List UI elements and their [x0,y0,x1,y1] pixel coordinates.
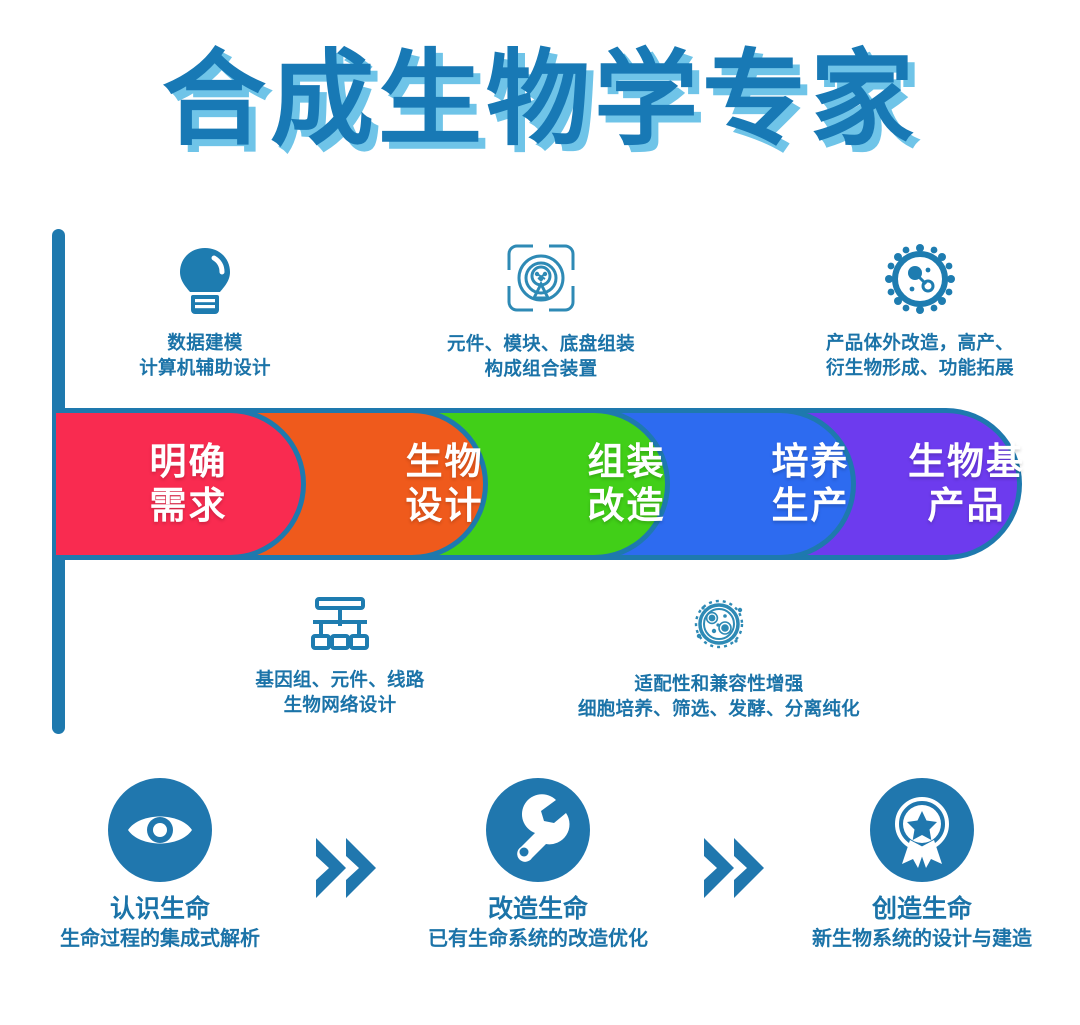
pipeline-stage-1-label: 明确 需求 [56,440,311,528]
flow-subtitle-2: 已有生命系统的改造优化 [400,926,676,952]
flow-circle-2 [486,778,590,882]
bottom-flow-row: 认识生命 生命过程的集成式解析 改造生命 已有生命系统的改造优化 [0,778,1080,998]
top-icon-caption-2-line1: 元件、模块、底盘组装 [398,331,684,356]
double-chevron-right-icon-2 [700,834,776,907]
virus-modification-icon [775,243,1065,320]
double-chevron-right-icon-1 [312,834,388,907]
flow-title-3: 创造生命 [782,894,1062,924]
bottom-icon-caption-1-line1: 基因组、元件、线路 [215,667,465,692]
flow-item-2[interactable]: 改造生命 已有生命系统的改造优化 [400,778,676,952]
top-icon-caption-2-line2: 构成组合装置 [398,356,684,381]
flow-item-3[interactable]: 创造生命 新生物系统的设计与建造 [782,778,1062,952]
bottom-icon-caption-1-line2: 生物网络设计 [215,692,465,717]
cell-culture-icon [540,592,898,661]
module-assembly-icon [398,240,684,321]
page-title: 合成生物学专家 合成生物学专家 [0,34,1080,174]
flow-subtitle-1: 生命过程的集成式解析 [32,926,288,952]
circuit-network-icon [215,596,465,657]
top-icon-caption-1-line1: 数据建模 [75,330,335,355]
pipeline-stage-1[interactable]: 明确 需求 [56,408,306,560]
award-ribbon-icon [870,778,974,882]
top-icon-caption-1-line2: 计算机辅助设计 [75,355,335,380]
eye-icon [108,778,212,882]
flow-title-1: 认识生命 [32,894,288,924]
lightbulb-icon [75,245,335,320]
wrench-icon [486,778,590,882]
top-icon-block-3: 产品体外改造，高产、 衍生物形成、功能拓展 [775,243,1065,380]
flow-subtitle-3: 新生物系统的设计与建造 [782,926,1062,952]
top-icon-caption-3-line2: 衍生物形成、功能拓展 [775,355,1065,380]
bottom-icon-block-2: 适配性和兼容性增强 细胞培养、筛选、发酵、分离纯化 [540,592,898,721]
bottom-icon-caption-2-line1: 适配性和兼容性增强 [540,671,898,696]
flow-item-1[interactable]: 认识生命 生命过程的集成式解析 [32,778,288,952]
bottom-icon-block-1: 基因组、元件、线路 生物网络设计 [215,596,465,717]
page-title-text: 合成生物学专家 [0,34,1080,164]
flow-title-2: 改造生命 [400,894,676,924]
flow-circle-3 [870,778,974,882]
flow-circle-1 [108,778,212,882]
top-icon-block-2: 元件、模块、底盘组装 构成组合装置 [398,240,684,381]
top-icon-block-1: 数据建模 计算机辅助设计 [75,245,335,380]
pipeline-stage-bar: 明确 需求 生物 设计 组装 改造 培养 生产 生物基 产品 [56,408,1022,560]
top-icon-caption-3-line1: 产品体外改造，高产、 [775,330,1065,355]
bottom-icon-caption-2-line2: 细胞培养、筛选、发酵、分离纯化 [540,696,898,721]
